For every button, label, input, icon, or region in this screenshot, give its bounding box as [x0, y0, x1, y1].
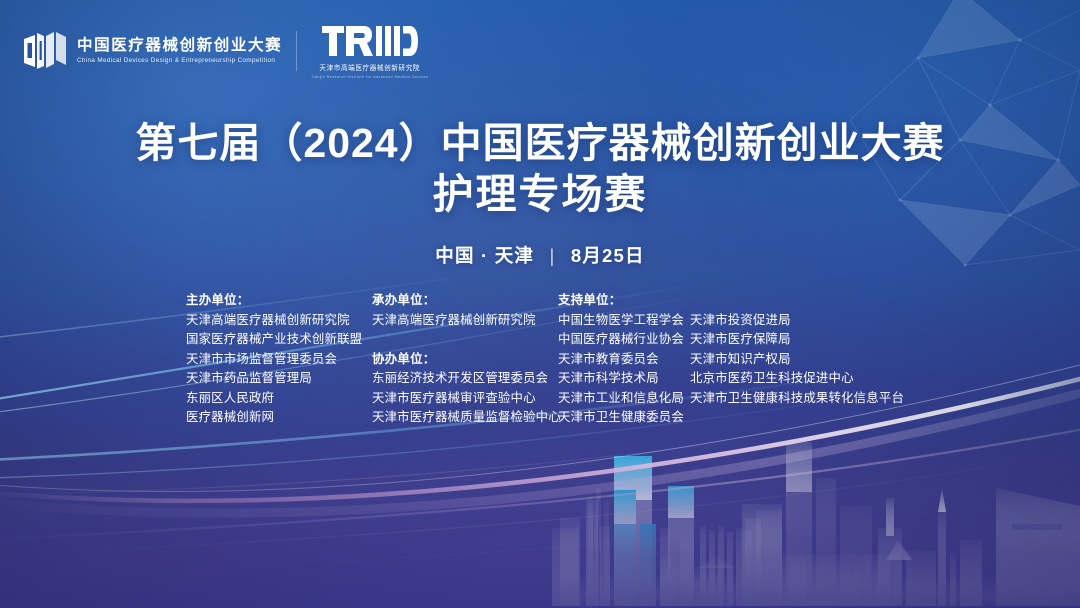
logo-trimd-cn-text: 天津市高端医疗器械创新研究院 [319, 62, 420, 72]
supporter-item: 天津市工业和信息化局 [558, 389, 690, 409]
organizations-block: 主办单位： 天津高端医疗器械创新研究院 国家医疗器械产业技术创新联盟 天津市市场… [186, 291, 900, 428]
background-glow-top-left [0, 0, 720, 540]
undertaker-column: 承办单位： 天津高端医疗器械创新研究院 协办单位： 东丽经济技术开发区管理委员会… [372, 291, 558, 428]
supporter-item: 天津市投资促进局 [690, 311, 900, 331]
trimd-wordmark-icon [322, 24, 418, 58]
supporter-item: 中国医疗器械行业协会 [558, 330, 690, 350]
open-book-logo-icon [22, 30, 68, 72]
organizer-item: 国家医疗器械产业技术创新联盟 [186, 330, 372, 350]
organizer-item: 天津市药品监督管理局 [186, 369, 372, 389]
supporter-item: 北京市医药卫生科技促进中心 [690, 369, 900, 389]
supporter-item: 天津市知识产权局 [690, 350, 900, 370]
co-organizer-heading: 协办单位： [372, 350, 558, 370]
subtitle-location: 中国 · 天津 [435, 245, 534, 266]
column-spacer [690, 291, 900, 311]
organizer-item: 天津市市场监督管理委员会 [186, 350, 372, 370]
supporter-item: 天津市卫生健康科技成果转化信息平台 [690, 389, 900, 409]
co-organizer-item: 东丽经济技术开发区管理委员会 [372, 369, 558, 389]
organizer-item: 医疗器械创新网 [186, 408, 372, 428]
logo-trimd: 天津市高端医疗器械创新研究院 Tianjin Research Institut… [311, 24, 428, 79]
supporters-column-left: 支持单位： 中国生物医学工程学会 中国医疗器械行业协会 天津市教育委员会 天津市… [558, 291, 690, 428]
organizer-item: 天津高端医疗器械创新研究院 [186, 311, 372, 331]
undertaker-item: 天津高端医疗器械创新研究院 [372, 311, 558, 331]
supporter-item: 天津市医疗保障局 [690, 330, 900, 350]
poster-subtitle: 中国 · 天津 | 8月25日 [0, 242, 1080, 268]
bottom-haze [0, 433, 1080, 608]
supporter-item: 天津市科学技术局 [558, 369, 690, 389]
organizers-column: 主办单位： 天津高端医疗器械创新研究院 国家医疗器械产业技术创新联盟 天津市市场… [186, 291, 372, 428]
supporter-item: 天津市教育委员会 [558, 350, 690, 370]
co-organizer-item: 天津市医疗器械审评查验中心 [372, 389, 558, 409]
supporter-item: 天津市卫生健康委员会 [558, 408, 690, 428]
logo-primary-cn-text: 中国医疗器械创新创业大赛 [77, 38, 282, 54]
organizer-item: 东丽区人民政府 [186, 389, 372, 409]
supporters-column-right: 天津市投资促进局 天津市医疗保障局 天津市知识产权局 北京市医药卫生科技促进中心… [690, 291, 900, 408]
organizers-heading: 主办单位： [186, 291, 372, 311]
event-poster: 中国医疗器械创新创业大赛 China Medical Devices Desig… [0, 0, 1080, 608]
title-line-2: 护理专场赛 [0, 169, 1080, 220]
column-spacer [372, 330, 558, 350]
poster-header: 中国医疗器械创新创业大赛 China Medical Devices Desig… [22, 24, 428, 79]
title-line-1: 第七届（2024）中国医疗器械创新创业大赛 [0, 118, 1080, 169]
undertaker-heading: 承办单位： [372, 291, 558, 311]
subtitle-separator: | [549, 245, 555, 267]
supporters-heading: 支持单位： [558, 291, 690, 311]
poster-title-block: 第七届（2024）中国医疗器械创新创业大赛 护理专场赛 中国 · 天津 | 8月… [0, 118, 1080, 268]
logo-trimd-en-text: Tianjin Research Institute for Advanced … [311, 75, 428, 79]
subtitle-date: 8月25日 [571, 245, 645, 266]
logo-china-medical-devices-competition: 中国医疗器械创新创业大赛 China Medical Devices Desig… [22, 30, 282, 72]
co-organizer-item: 天津市医疗器械质量监督检验中心 [372, 408, 558, 428]
logo-divider [296, 31, 297, 71]
logo-primary-en-text: China Medical Devices Design & Entrepren… [77, 58, 286, 64]
supporter-item: 中国生物医学工程学会 [558, 311, 690, 331]
